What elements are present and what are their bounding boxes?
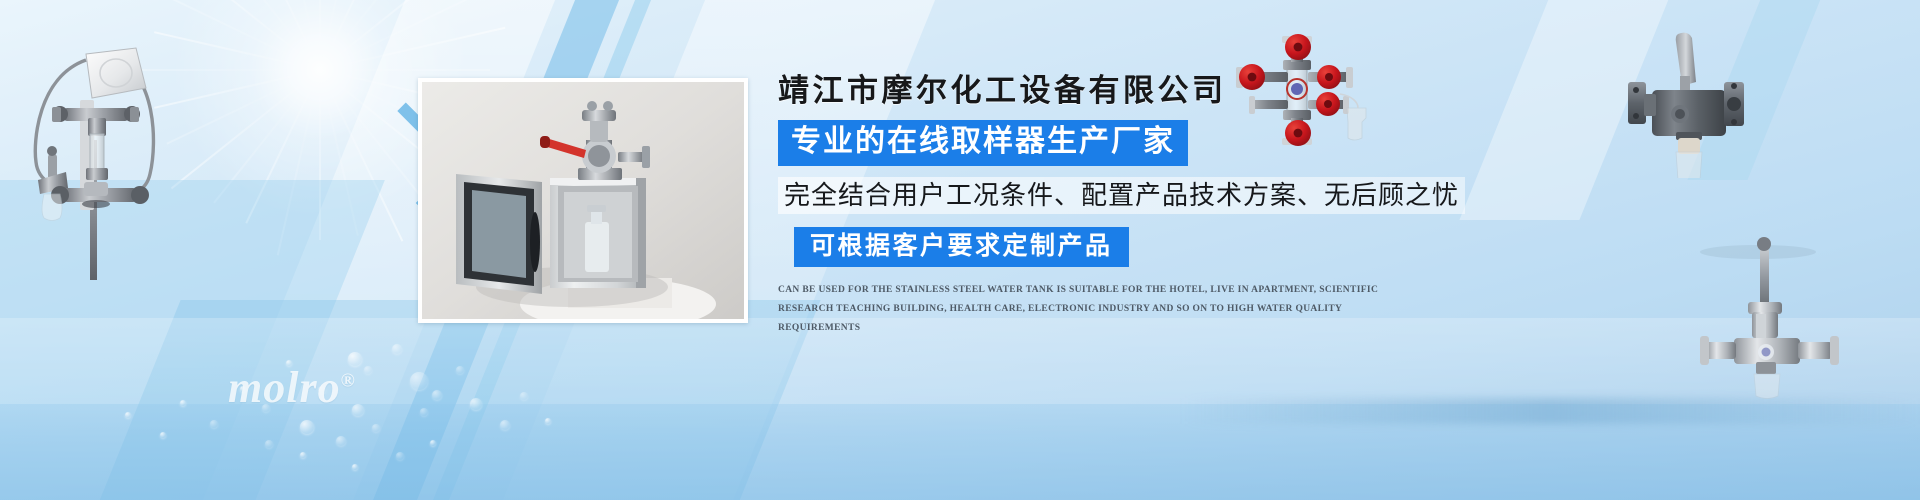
water-droplet xyxy=(520,392,528,400)
sub-headline: 完全结合用户工况条件、配置产品技术方案、无后顾之忧 xyxy=(778,177,1465,214)
sun-ray xyxy=(319,70,321,240)
water-droplet xyxy=(300,452,306,458)
water-droplet xyxy=(180,400,186,406)
sun-ray xyxy=(154,69,320,109)
sun-ray xyxy=(319,0,395,70)
promo-banner: 靖江市摩尔化工设备有限公司 专业的在线取样器生产厂家 完全结合用户工况条件、配置… xyxy=(0,0,1920,500)
sun-ray xyxy=(277,70,321,256)
right-product-vertical-valve xyxy=(1700,230,1900,400)
brand-watermark: molro® xyxy=(228,362,356,413)
water-droplet xyxy=(336,436,346,446)
sun-ray xyxy=(319,0,453,71)
sun-ray xyxy=(154,31,320,71)
sun-ray xyxy=(319,70,359,236)
sun-ray xyxy=(277,0,321,70)
sun-ray xyxy=(320,0,474,71)
sun-ray xyxy=(213,0,321,71)
horizon-shine xyxy=(1180,398,1920,424)
right-product-lever-valve xyxy=(1620,28,1770,178)
sun-ray xyxy=(166,69,320,145)
water-droplet xyxy=(545,418,551,424)
watermark-text: molro xyxy=(228,363,341,412)
cta-highlight: 可根据客户要求定制产品 xyxy=(794,227,1129,267)
water-droplet xyxy=(430,440,436,446)
sun-ray xyxy=(166,0,320,71)
water-droplet xyxy=(470,398,482,410)
registered-mark-icon: ® xyxy=(341,370,356,391)
sun-ray xyxy=(245,0,321,70)
water-droplet xyxy=(372,424,380,432)
center-product-photo xyxy=(418,78,748,323)
water-droplet xyxy=(392,344,402,354)
left-product-image xyxy=(8,22,178,282)
sun-ray xyxy=(171,0,321,71)
sun-ray xyxy=(320,69,490,71)
english-description: CAN BE USED FOR THE STAINLESS STEEL WATE… xyxy=(778,281,1388,338)
water-droplet xyxy=(420,408,428,416)
water-droplet xyxy=(456,366,464,374)
water-droplet xyxy=(160,432,166,438)
sun-ray xyxy=(213,69,321,203)
water-droplet xyxy=(125,412,131,418)
water-droplet xyxy=(396,452,404,460)
sun-ray xyxy=(319,0,359,70)
water-droplet xyxy=(300,420,314,434)
water-droplet xyxy=(265,440,273,448)
sun-ray xyxy=(320,27,506,71)
headline-highlight: 专业的在线取样器生产厂家 xyxy=(778,120,1188,167)
diagonal-stripe-6 xyxy=(59,300,820,500)
water-droplet xyxy=(364,366,372,374)
water-droplet xyxy=(500,420,510,430)
sun-ray xyxy=(319,0,321,70)
water-droplet xyxy=(410,372,428,390)
water-droplet xyxy=(432,390,442,400)
sun-ray xyxy=(245,70,321,224)
sun-ray xyxy=(319,0,439,71)
sun-ray xyxy=(171,69,321,189)
water-droplet xyxy=(210,420,218,428)
water-droplet xyxy=(352,464,358,470)
right-product-cross-sampler xyxy=(1216,34,1384,152)
